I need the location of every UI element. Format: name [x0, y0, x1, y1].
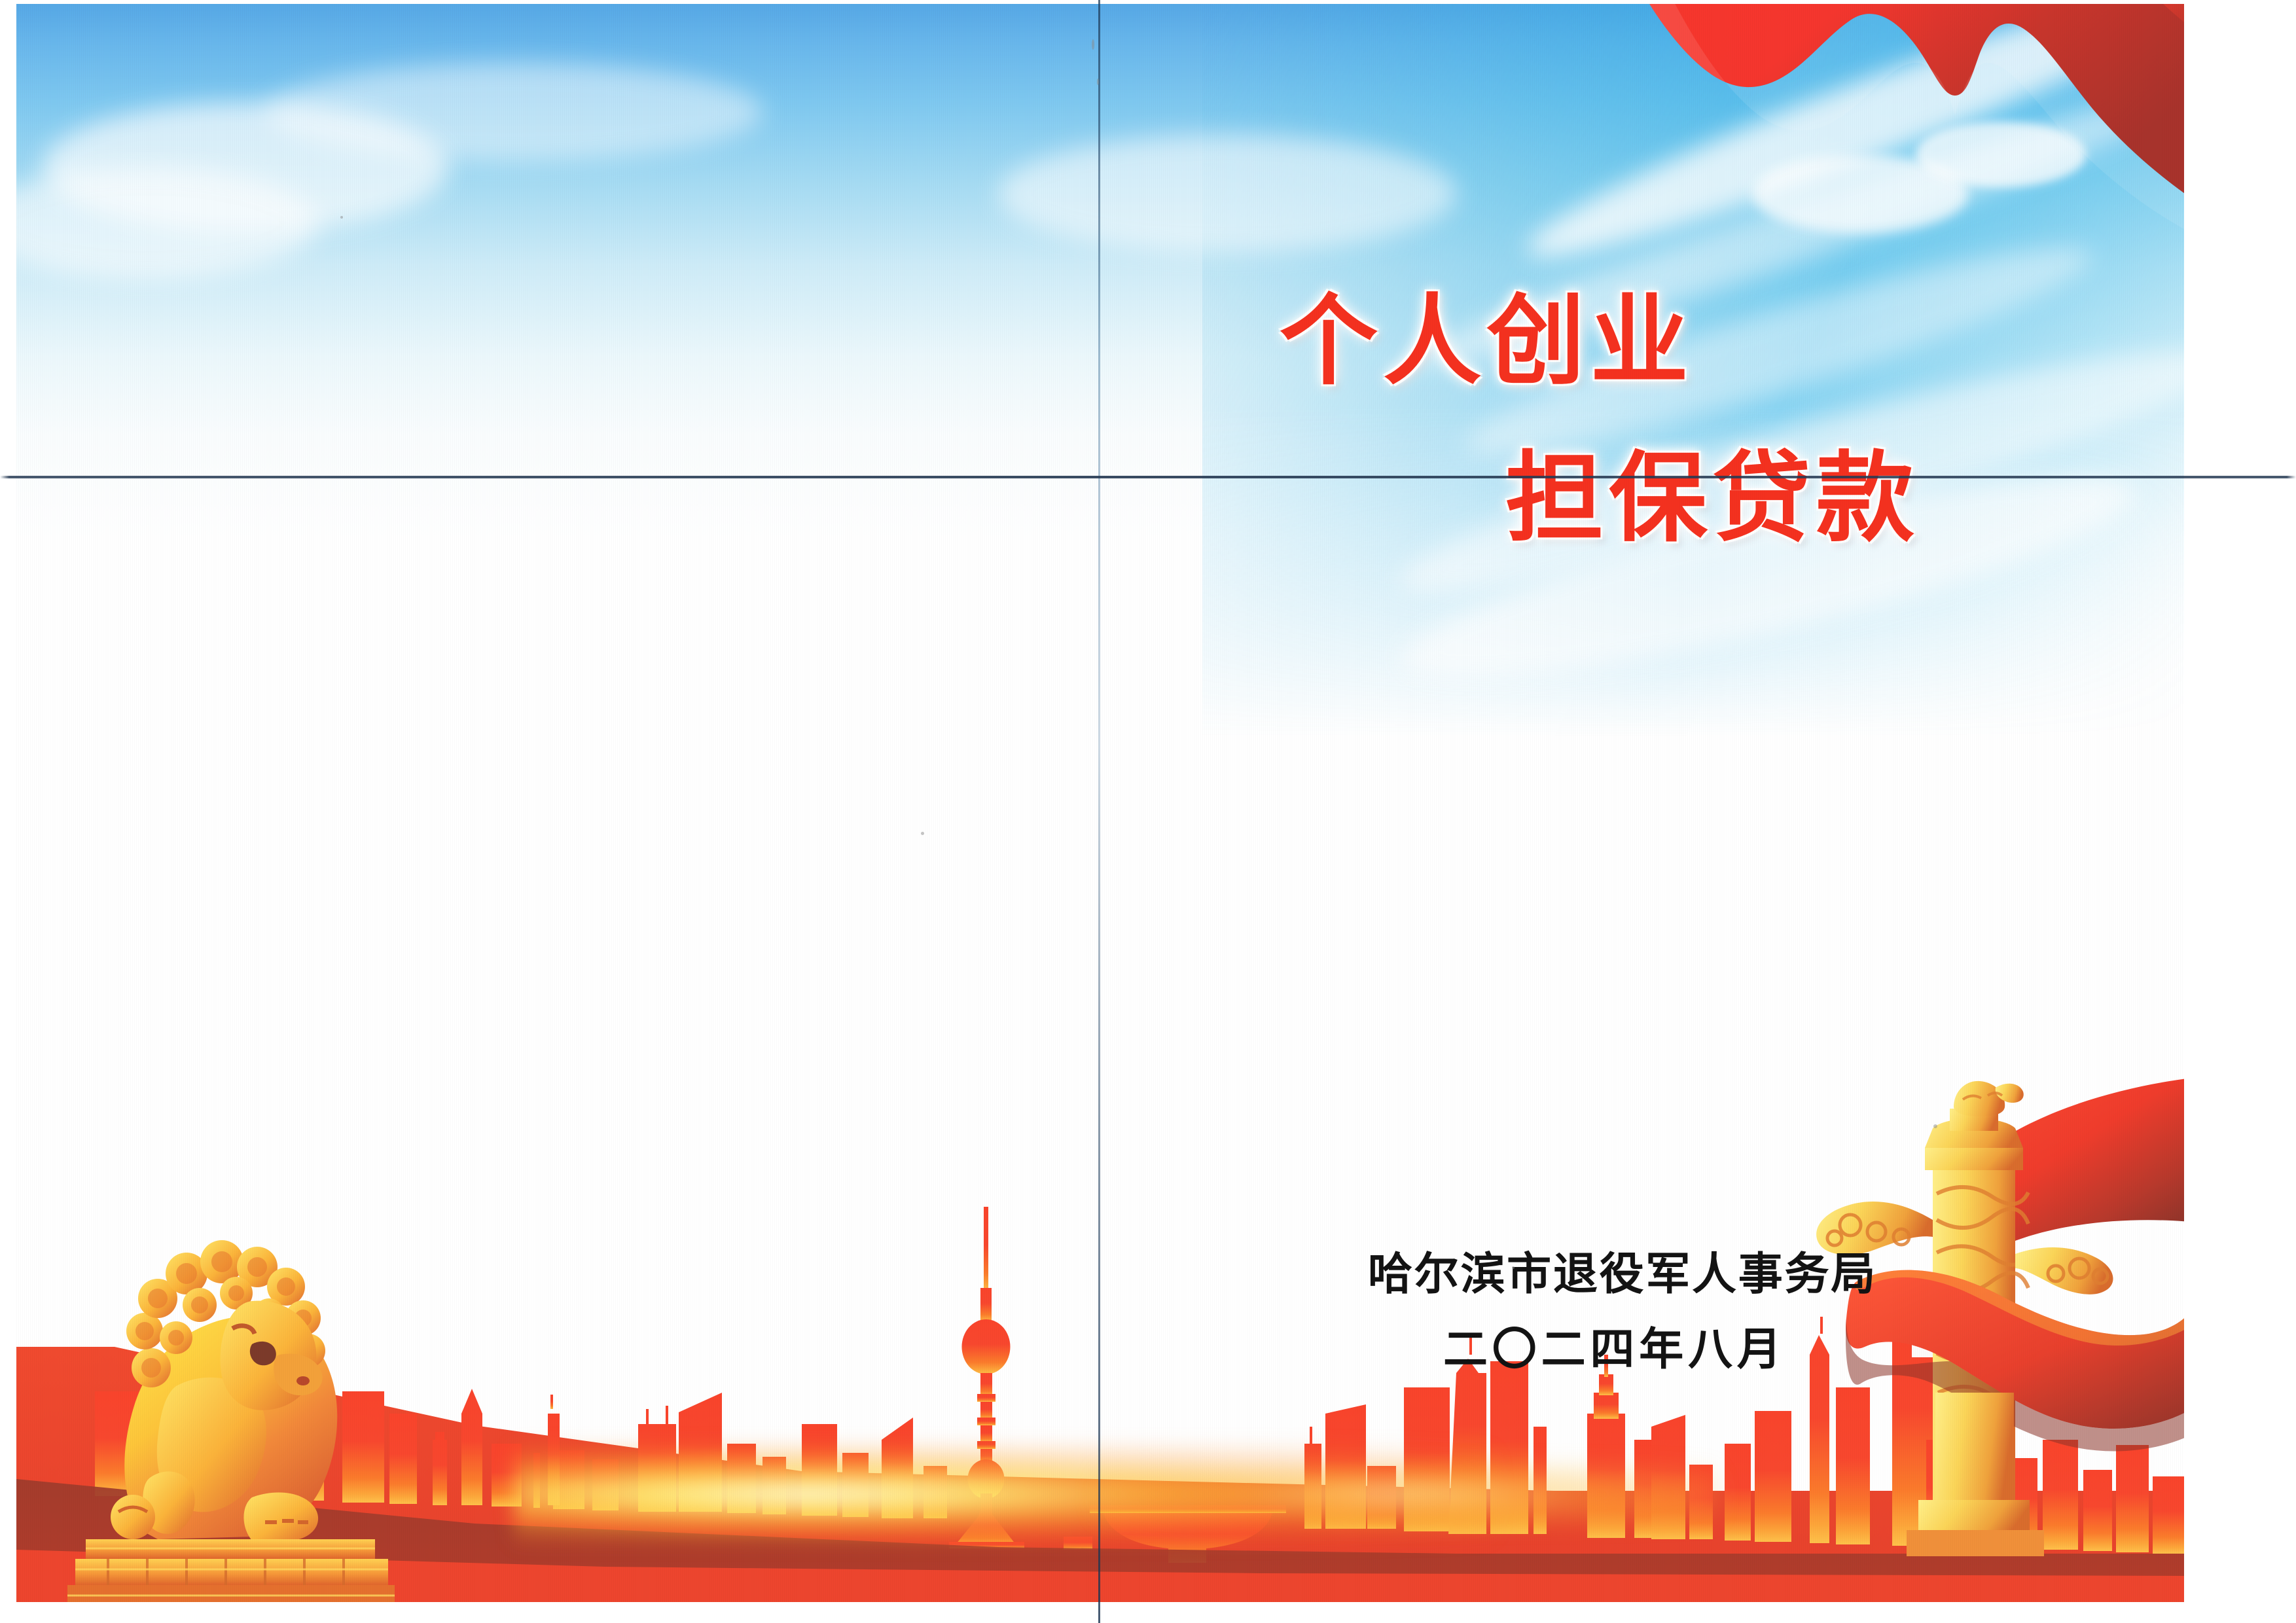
cloud-streak — [998, 135, 1456, 253]
cover-artwork: 个人创业 担保贷款 哈尔滨市退役军人事务局 二〇二四年八月 — [16, 4, 2184, 1602]
waving-red-flag — [1431, 4, 2184, 292]
guardian-lion-statue — [36, 1190, 403, 1602]
huabiao-column — [1778, 1065, 2184, 1602]
brochure-cover-page: 个人创业 担保贷款 哈尔滨市退役军人事务局 二〇二四年八月 — [0, 0, 2296, 1623]
